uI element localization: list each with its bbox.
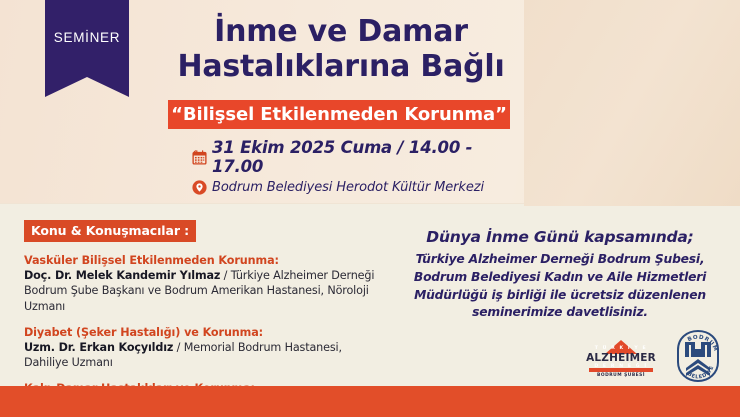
page-title: İnme ve Damar Hastalıklarına Bağlı [170,14,512,84]
page-title-line-2: Hastalıklarına Bağlı [170,49,512,84]
seminer-badge-label: SEMİNER [54,30,120,45]
event-location: Bodrum Belediyesi Herodot Kültür Merkezi [212,180,484,195]
speaker-name: Doç. Dr. Melek Kandemir Yılmaz [24,269,220,282]
bottom-bar [0,386,740,417]
photo-backdrop [524,0,740,206]
turkiye-alzheimer-dernegi-logo: T Ü R K İ Y E ALZHEIMER D E R N E Ğ İ BO… [583,334,659,382]
event-date-row: 31 Ekim 2025 Cuma / 14.00 - 17.00 [186,138,516,176]
speakers-heading: Konu & Konuşmacılar : [24,220,196,242]
invitation-section: Dünya İnme Günü kapsamında; Türkiye Alzh… [400,228,720,322]
elderly-woman-with-caregiver-photo [524,0,740,206]
event-meta: 31 Ekim 2025 Cuma / 14.00 - 17.00 Bodrum… [186,138,516,199]
topic-title: Diyabet (Şeker Hastalığı) ve Korunma: [24,325,384,340]
invitation-lead: Dünya İnme Günü kapsamında; [400,228,720,246]
topic-speaker: Uzm. Dr. Erkan Koçyıldız / Memorial Bodr… [24,340,384,370]
alzheimer-logo-mid-text: D E R N E Ğ İ [583,364,659,369]
event-location-row: Bodrum Belediyesi Herodot Kültür Merkezi [186,179,516,196]
seminar-poster: SEMİNER İnme ve Damar Hastalıklarına Bağ… [0,0,740,417]
subtitle-banner: “Bilişsel Etkilenmeden Korunma” [168,100,510,129]
alzheimer-logo-sub-text: BODRUM ŞUBESİ [583,373,659,378]
alzheimer-logo-name: ALZHEIMER [583,352,659,364]
invitation-body: Türkiye Alzheimer Derneği Bodrum Şubesi,… [400,251,720,322]
speaker-name: Uzm. Dr. Erkan Koçyıldız [24,341,173,354]
topic-speaker: Doç. Dr. Melek Kandemir Yılmaz / Türkiye… [24,268,384,314]
logos-row: T Ü R K İ Y E ALZHEIMER D E R N E Ğ İ BO… [583,328,723,382]
bodrum-belediyesi-logo: BODRUM BELEDİYESİ [675,330,721,382]
topic-item: Diyabet (Şeker Hastalığı) ve Korunma: Uz… [24,325,384,371]
page-title-line-1: İnme ve Damar [170,14,512,49]
calendar-icon-svg [191,149,208,166]
calendar-icon [186,149,212,166]
location-pin-icon-svg [191,179,208,196]
alzheimer-logo-top-text: T Ü R K İ Y E [583,346,659,351]
subtitle-text: “Bilişsel Etkilenmeden Korunma” [171,104,507,125]
speaker-separator: / [173,341,183,354]
location-pin-icon [186,179,212,196]
speaker-separator: / [220,269,230,282]
bodrum-logo-shape: BODRUM BELEDİYESİ [675,330,721,382]
event-date: 31 Ekim 2025 Cuma / 14.00 - 17.00 [212,138,516,176]
topic-title: Vasküler Bilişsel Etkilenmeden Korunma: [24,253,384,268]
topic-item: Vasküler Bilişsel Etkilenmeden Korunma: … [24,253,384,314]
